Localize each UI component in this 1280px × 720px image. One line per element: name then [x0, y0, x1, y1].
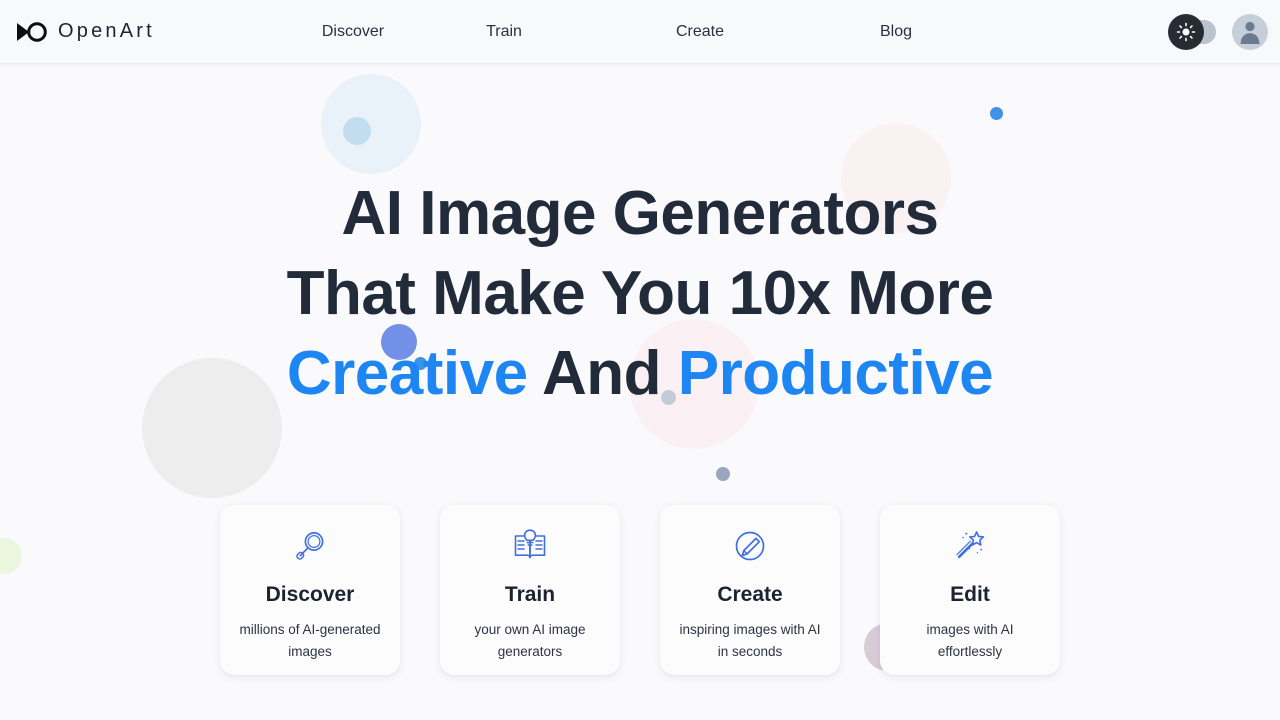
- feature-card-description: images with AI effortlessly: [895, 619, 1045, 663]
- headline-conjunction: And: [528, 339, 678, 408]
- feature-card-title: Edit: [950, 583, 990, 607]
- feature-card-edit[interactable]: Edit images with AI effortlessly: [880, 505, 1060, 675]
- decor-slate-dot-a: [661, 390, 676, 405]
- decor-blue-tiny: [414, 357, 427, 370]
- feature-card-title: Create: [717, 583, 782, 607]
- decor-periwinkle: [381, 324, 417, 360]
- decor-green-edge: [0, 538, 22, 574]
- feature-card-title: Discover: [266, 583, 355, 607]
- feature-cards: Discover millions of AI-generated images: [220, 505, 1060, 675]
- nav-item-create[interactable]: Create: [602, 23, 798, 41]
- main-nav: Discover Train Create Blog: [300, 0, 994, 64]
- headline-line-1: AI Image Generators: [0, 174, 1280, 254]
- hero-section: AI Image Generators That Make You 10x Mo…: [0, 64, 1280, 414]
- nav-item-blog[interactable]: Blog: [798, 23, 994, 41]
- feature-card-description: your own AI image generators: [455, 619, 605, 663]
- pencil-circle-icon: [731, 527, 769, 565]
- feature-card-title: Train: [505, 583, 555, 607]
- header-actions: [1172, 0, 1268, 64]
- decor-pink-medium: [629, 319, 759, 449]
- decor-slate-dot-b: [716, 467, 730, 481]
- hero-headline: AI Image Generators That Make You 10x Mo…: [0, 174, 1280, 414]
- decor-pale-blue-large: [321, 74, 421, 174]
- theme-toggle-knob[interactable]: [1168, 14, 1204, 50]
- feature-card-description: millions of AI-generated images: [235, 619, 385, 663]
- feature-card-description: inspiring images with AI in seconds: [675, 619, 825, 663]
- headline-accent-productive: Productive: [678, 339, 993, 408]
- headline-line-3: Creative And Productive: [0, 334, 1280, 414]
- headline-accent-creative: Creative: [287, 339, 528, 408]
- magic-wand-icon: [951, 527, 989, 565]
- nav-item-discover[interactable]: Discover: [300, 23, 406, 41]
- decor-gray-large: [142, 358, 282, 498]
- decor-blue-small: [343, 117, 371, 145]
- sun-icon: [1176, 22, 1196, 42]
- book-lightbulb-icon: [511, 527, 549, 565]
- page-root: OpenArt Discover Train Create Blog: [0, 0, 1280, 720]
- infinity-logo-icon: [14, 18, 48, 46]
- headline-line-2: That Make You 10x More: [0, 254, 1280, 334]
- brand-logo[interactable]: OpenArt: [14, 18, 155, 46]
- feature-card-create[interactable]: Create inspiring images with AI in secon…: [660, 505, 840, 675]
- magnifying-glass-icon: [291, 527, 329, 565]
- user-avatar[interactable]: [1232, 14, 1268, 50]
- top-navigation-bar: OpenArt Discover Train Create Blog: [0, 0, 1280, 64]
- nav-item-train[interactable]: Train: [406, 23, 602, 41]
- decor-blue-dot: [990, 107, 1003, 120]
- theme-toggle[interactable]: [1172, 20, 1216, 44]
- feature-card-train[interactable]: Train your own AI image generators: [440, 505, 620, 675]
- decor-blush-large: [841, 123, 951, 233]
- brand-name: OpenArt: [58, 20, 155, 43]
- user-avatar-icon: [1237, 18, 1263, 50]
- feature-card-discover[interactable]: Discover millions of AI-generated images: [220, 505, 400, 675]
